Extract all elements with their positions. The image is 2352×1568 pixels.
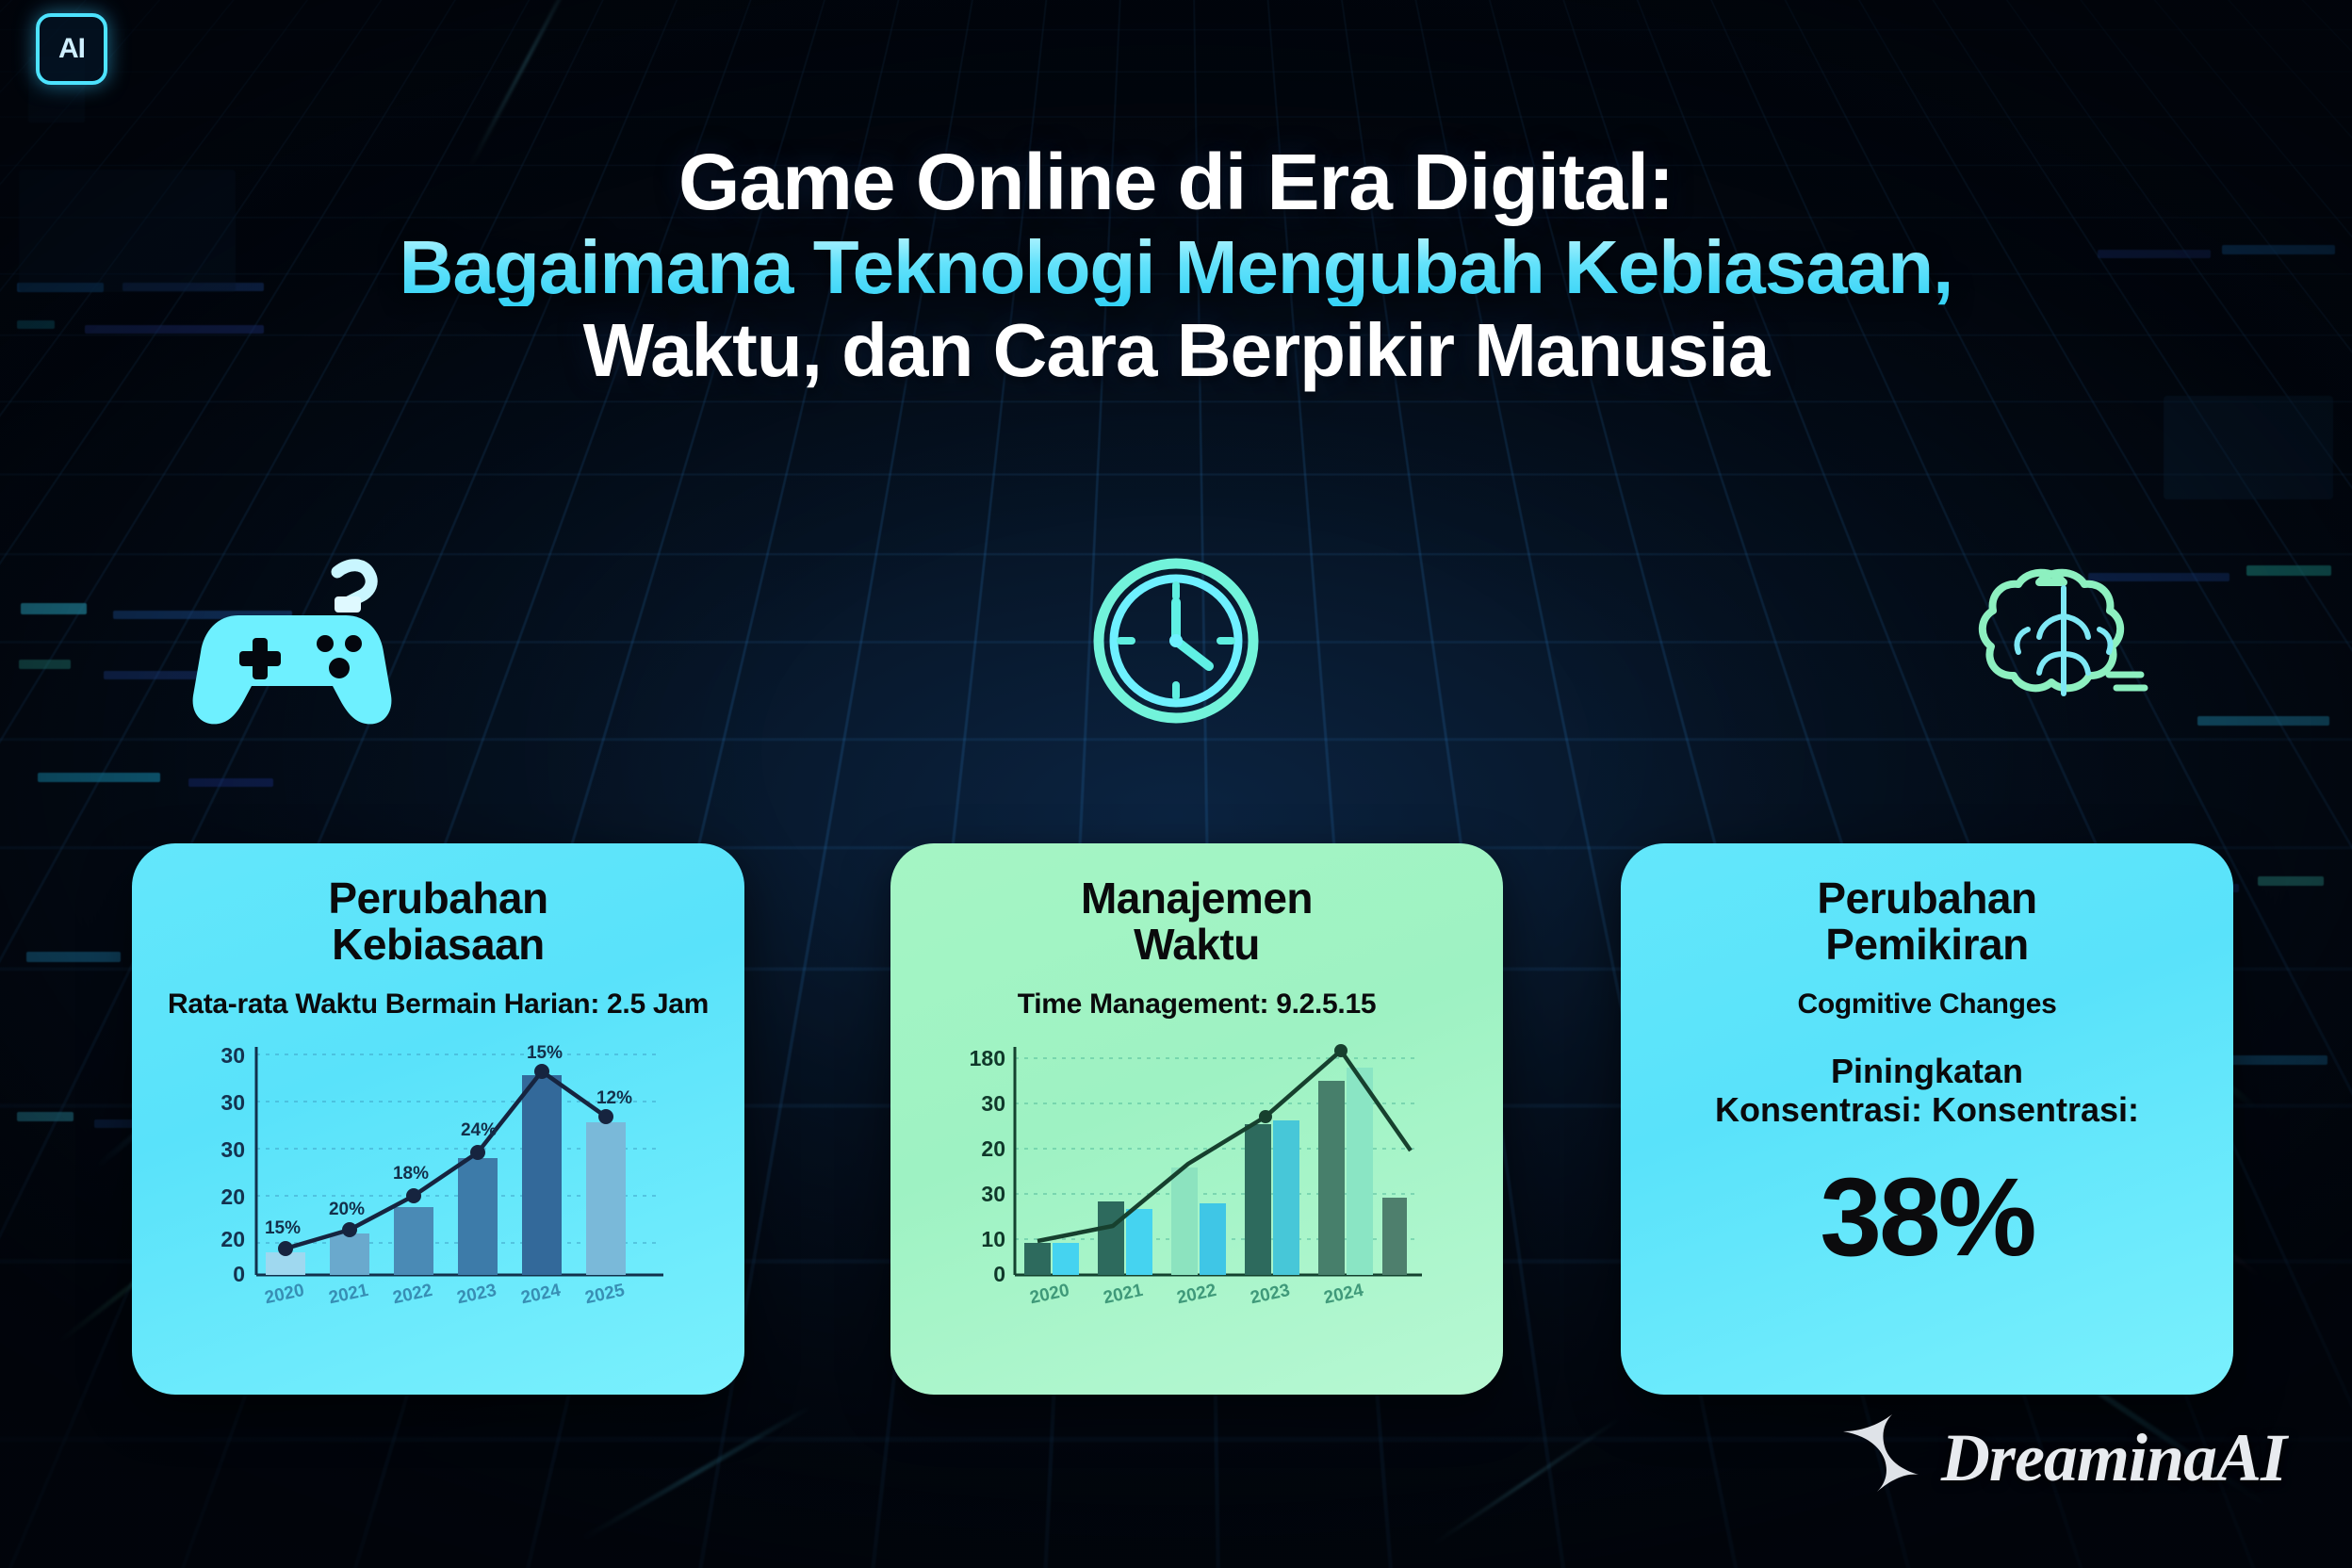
svg-text:30: 30 (981, 1091, 1005, 1116)
card3-stat-label: Piningkatan Konsentrasi: Konsentrasi: (1715, 1053, 2139, 1129)
svg-text:2023: 2023 (455, 1281, 498, 1308)
card2-chart: 180 30 20 30 10 0 (947, 1037, 1446, 1311)
icon-row (0, 551, 2352, 730)
svg-text:30: 30 (220, 1137, 245, 1162)
card3-title-line-1: Perubahan (1817, 874, 2036, 923)
ai-badge: AI (36, 13, 107, 85)
card-time-management[interactable]: Manajemen Waktu Time Management: 9.2.5.1… (890, 843, 1503, 1395)
card3-title: Perubahan Pemikiran (1817, 875, 2036, 968)
card3-stat-label-line-1: Piningkatan (1831, 1052, 2023, 1090)
card3-subtitle: Cogmitive Changes (1798, 988, 2057, 1021)
card2-title: Manajemen Waktu (1081, 875, 1313, 968)
svg-text:30: 30 (220, 1090, 245, 1115)
card1-subtitle: Rata-rata Waktu Bermain Harian: 2.5 Jam (168, 988, 709, 1021)
title-line-3: Waktu, dan Cara Berpikir Manusia (0, 312, 2352, 389)
svg-text:2020: 2020 (263, 1281, 306, 1308)
gamepad-icon (151, 551, 433, 730)
card-cognitive-change[interactable]: Perubahan Pemikiran Cogmitive Changes Pi… (1621, 843, 2233, 1395)
card1-title: Perubahan Kebiasaan (328, 875, 547, 968)
card2-subtitle: Time Management: 9.2.5.15 (1018, 988, 1376, 1021)
svg-text:15%: 15% (527, 1043, 563, 1063)
svg-text:2024: 2024 (519, 1281, 563, 1308)
svg-text:2021: 2021 (327, 1281, 370, 1308)
page-title: Game Online di Era Digital: Bagaimana Te… (0, 141, 2352, 389)
watermark-text: DreaminaAI (1941, 1419, 2286, 1497)
card3-stat-value: 38% (1820, 1153, 2033, 1282)
svg-text:20: 20 (220, 1227, 245, 1251)
svg-text:20%: 20% (329, 1200, 365, 1219)
svg-text:12%: 12% (596, 1088, 632, 1108)
card3-stat-label-line-2: Konsentrasi: Konsentrasi: (1715, 1090, 2139, 1129)
svg-text:10: 10 (981, 1227, 1005, 1251)
svg-text:30: 30 (981, 1182, 1005, 1206)
infographic-canvas: AI Game Online di Era Digital: Bagaimana… (0, 0, 2352, 1568)
title-line-2: Bagaimana Teknologi Mengubah Kebiasaan, (0, 229, 2352, 306)
svg-text:15%: 15% (265, 1218, 301, 1238)
svg-text:18%: 18% (393, 1164, 429, 1184)
card1-title-line-2: Kebiasaan (332, 920, 545, 969)
clock-icon (1035, 551, 1317, 730)
svg-text:2021: 2021 (1102, 1281, 1145, 1308)
card-habit-change[interactable]: Perubahan Kebiasaan Rata-rata Waktu Berm… (132, 843, 744, 1395)
svg-text:2023: 2023 (1249, 1281, 1292, 1308)
card3-title-line-2: Pemikiran (1825, 920, 2028, 969)
ai-badge-label: AI (58, 33, 85, 65)
title-line-1: Game Online di Era Digital: (0, 141, 2352, 223)
card2-title-line-1: Manajemen (1081, 874, 1313, 923)
svg-text:30: 30 (220, 1043, 245, 1068)
card1-chart: 30 30 30 20 20 0 (188, 1037, 688, 1311)
svg-text:0: 0 (993, 1262, 1005, 1286)
card2-title-line-2: Waktu (1134, 920, 1260, 969)
svg-text:180: 180 (970, 1046, 1005, 1070)
card-row: Perubahan Kebiasaan Rata-rata Waktu Berm… (0, 843, 2352, 1409)
svg-text:24%: 24% (461, 1120, 497, 1140)
svg-text:20: 20 (220, 1184, 245, 1209)
svg-text:2022: 2022 (1175, 1281, 1218, 1308)
brain-icon (1922, 551, 2205, 730)
svg-text:2025: 2025 (583, 1281, 627, 1308)
svg-text:2020: 2020 (1028, 1281, 1071, 1308)
svg-text:0: 0 (233, 1262, 245, 1286)
svg-text:2022: 2022 (391, 1281, 434, 1308)
card1-title-line-1: Perubahan (328, 874, 547, 923)
watermark: DreaminaAI (1830, 1411, 2286, 1506)
svg-text:2024: 2024 (1322, 1281, 1365, 1308)
svg-text:20: 20 (981, 1136, 1005, 1161)
sparkle-icon (1830, 1411, 1920, 1506)
